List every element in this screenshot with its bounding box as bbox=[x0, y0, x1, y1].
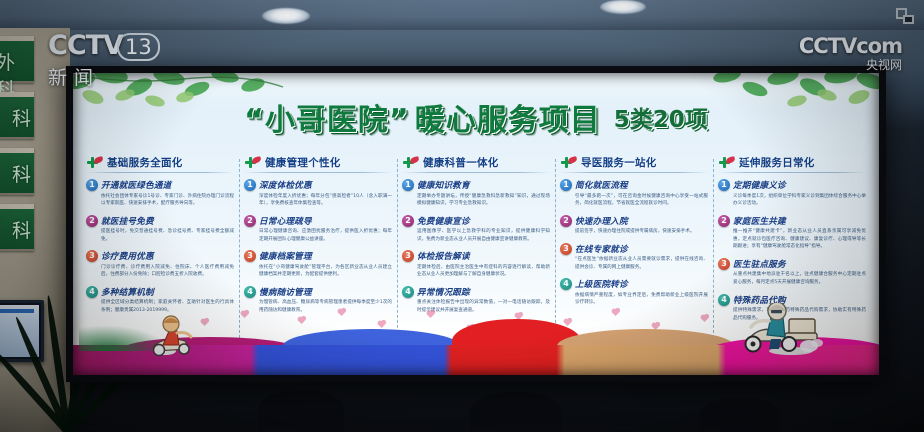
item-title: 体检报告解读 bbox=[417, 250, 470, 262]
column-header-label: 导医服务一站化 bbox=[581, 155, 657, 170]
item-number: 3 bbox=[86, 250, 98, 262]
item-number: 2 bbox=[244, 215, 256, 227]
item-title: 定期健康义诊 bbox=[733, 179, 786, 191]
item-title: 健康档案管理 bbox=[259, 250, 312, 262]
item-body: 引导“最多跑一次”，可在咨询金时候健康咨询中心享受一站式服务，简化就医流程，节省… bbox=[575, 193, 708, 208]
header-divider bbox=[718, 172, 866, 173]
green-cross-ribbon-icon bbox=[560, 156, 577, 169]
green-cross-ribbon-icon bbox=[86, 156, 103, 169]
column-header: 延伸服务日常化 bbox=[718, 155, 866, 170]
item-title: 免费健康宣诊 bbox=[417, 215, 470, 227]
item-number: 1 bbox=[718, 179, 730, 191]
item-title: 健康知识教育 bbox=[417, 179, 470, 191]
item-body: 运用图像学、医学以上急救学科的专业知识，提供健康科学知识，免费为新业态从业人员开… bbox=[417, 228, 550, 243]
service-item[interactable]: 2家庭医生共建 推一推开“健康共建卡”，新业态从业人员直系亲属可享减免优惠，定点… bbox=[718, 215, 866, 251]
department-sign: 科 bbox=[0, 92, 34, 139]
header-divider bbox=[402, 172, 550, 173]
channel-logo: CCTV13 新闻 bbox=[48, 30, 208, 92]
title-main: 暖心服务项目 bbox=[415, 95, 601, 139]
channel-name: 新闻 bbox=[48, 63, 208, 90]
item-number: 1 bbox=[402, 179, 414, 191]
watermark-cn: 央视网 bbox=[799, 56, 902, 73]
department-sign-list: 外科 科 科 科 bbox=[0, 36, 36, 260]
header-divider bbox=[560, 172, 708, 173]
service-item[interactable]: 2快速办理入院 提前签字，快速办理住院或提供专属病房，快速安排手术。 bbox=[560, 215, 708, 236]
title-count: 5类20项 bbox=[614, 100, 708, 134]
service-item[interactable]: 1健康知识教育 定期举办专题讲坛，传授“健康急救科急新救知”知识，通过现场模拟健… bbox=[402, 179, 550, 208]
item-number: 2 bbox=[86, 215, 98, 227]
item-title: 家庭医生共建 bbox=[733, 215, 786, 227]
item-title: 就医挂号免费 bbox=[101, 215, 154, 227]
item-number: 3 bbox=[560, 243, 572, 255]
desk-monitor bbox=[0, 300, 44, 362]
website-watermark: CCTVcom 央视网 bbox=[799, 34, 902, 73]
item-body: 依托在“小哥健康驾驶舱”管理平台，为各区新业态从业人员建立健康档案并定期更新，为… bbox=[259, 264, 392, 279]
ceiling bbox=[0, 0, 924, 30]
green-cross-ribbon-icon bbox=[402, 156, 419, 169]
column-header: 导医服务一站化 bbox=[560, 155, 708, 170]
service-item[interactable]: 1深度体检优惠 深度体检年度入折优惠；每年分包“感高检者”10人（含入职满一年）… bbox=[244, 179, 392, 208]
item-title: 诊疗费用优惠 bbox=[101, 250, 154, 262]
item-body: 从重点共建集中地派驻干名以上，驻点健康合服务中心定期驻点爱心服务，每月定点5天开… bbox=[733, 271, 866, 286]
service-item[interactable]: 2就医挂号免费 提医挂号时，免交普通挂号费、急诊挂号费、专家挂号费全额减免。 bbox=[86, 215, 234, 244]
item-title: 深度体检优惠 bbox=[259, 179, 312, 191]
audience-silhouette bbox=[470, 392, 562, 432]
item-number: 3 bbox=[718, 258, 730, 270]
green-cross-ribbon-icon bbox=[718, 156, 735, 169]
audience-silhouette bbox=[258, 390, 344, 432]
item-title: 开通就医绿色通道 bbox=[101, 179, 171, 191]
item-title: 上级医院转诊 bbox=[575, 278, 628, 290]
service-item[interactable]: 1简化就医流程 引导“最多跑一次”，可在咨询金时候健康咨询中心享受一站式服务，简… bbox=[560, 179, 708, 208]
service-item[interactable]: 3体检报告解读 定期体检后，由医院主治医生中有症科的内容逐行解读，帮助新业态从业… bbox=[402, 250, 550, 279]
item-body: 深度体检年度入折优惠；每年分包“感高检者”10人（含入职满一年），享免费核查年体… bbox=[259, 193, 392, 208]
title-quoted: “小哥医院” bbox=[244, 95, 409, 139]
column-header-label: 健康管理个性化 bbox=[265, 155, 341, 170]
service-item[interactable]: 3健康档案管理 依托在“小哥健康驾驶舱”管理平台，为各区新业态从业人员建立健康档… bbox=[244, 250, 392, 279]
item-number: 4 bbox=[560, 278, 572, 290]
service-item[interactable]: 3在线专家就诊 “在点医生”依据新业态从业人员需要就诊需求，提供在线咨询、提供会… bbox=[560, 243, 708, 272]
item-title: 日常心理疏导 bbox=[259, 215, 312, 227]
green-cross-ribbon-icon bbox=[244, 156, 261, 169]
item-body: 提前签字，快速办理住院或提供专属病房，快速安排手术。 bbox=[575, 228, 708, 236]
watermark-com: com bbox=[856, 34, 902, 58]
bottom-illustration bbox=[73, 303, 879, 375]
item-body: 定期体检后，由医院主治医生中有症科的内容逐行解读，帮助新业态从业人员更加理解与了… bbox=[417, 264, 550, 279]
department-sign-label: 科 bbox=[12, 104, 32, 131]
department-sign: 科 bbox=[0, 204, 34, 251]
channel-number: 13 bbox=[117, 33, 160, 61]
delivery-rider-icon bbox=[145, 307, 209, 357]
watermark-cctv: CCTV bbox=[799, 34, 856, 58]
item-number: 2 bbox=[402, 215, 414, 227]
item-number: 1 bbox=[560, 179, 572, 191]
board-title: “小哥医院” 暖心服务项目 5类20项 bbox=[73, 95, 879, 139]
department-sign: 外科 bbox=[0, 36, 34, 83]
item-title: 异常情况跟踪 bbox=[417, 286, 470, 298]
audience-silhouette bbox=[700, 398, 780, 432]
department-sign-label: 科 bbox=[12, 216, 32, 243]
header-divider bbox=[86, 172, 234, 173]
column-header-label: 健康科普一体化 bbox=[423, 155, 499, 170]
channel-logo-mark: CCTV bbox=[48, 30, 123, 61]
item-title: 慢病随访管理 bbox=[259, 286, 312, 298]
picture-in-picture-icon[interactable] bbox=[896, 8, 914, 24]
item-number: 4 bbox=[86, 286, 98, 298]
item-title: 医生驻点服务 bbox=[733, 258, 786, 270]
item-number: 2 bbox=[718, 215, 730, 227]
item-number: 4 bbox=[244, 286, 256, 298]
service-item[interactable]: 3诊疗费用优惠 门诊诊疗费、诊疗费用入院减免、住院床、个人医疗费用减免后，住费部… bbox=[86, 250, 234, 279]
item-body: 推一推开“健康共建卡”，新业态从业人员直系亲属可享减免优惠，定点就诊包医疗咨询、… bbox=[733, 228, 866, 251]
header-divider bbox=[244, 172, 392, 173]
item-body: 门诊诊疗费、诊疗费用入院减免、住院床、个人医疗费用减免后，住费部分入份免除；口腔… bbox=[101, 264, 234, 279]
led-display-board: “小哥医院” 暖心服务项目 5类20项 基础服务全面化 1开通就医绿色通道 依托… bbox=[66, 66, 886, 382]
column-header-label: 基础服务全面化 bbox=[107, 155, 183, 170]
video-frame: 外科 科 科 科 bbox=[0, 0, 924, 432]
monitor-screen bbox=[0, 305, 39, 357]
service-item[interactable]: 1开通就医绿色通道 依托社会团体专家号诊1号诊、专家门诊、外病住院办理门诊流程以… bbox=[86, 179, 234, 208]
item-body: 日常心理健康咨询、应激困扰服务治疗，提供医入折优惠；每年定期开展团队心理健康公益… bbox=[259, 228, 392, 243]
column-header: 健康科普一体化 bbox=[402, 155, 550, 170]
column-header-label: 延伸服务日常化 bbox=[739, 155, 815, 170]
item-body: 提医挂号时，免交普通挂号费、急诊挂号费、专家挂号费全额减免。 bbox=[101, 228, 234, 243]
item-body: “在点医生”依据新业态从业人员需要就诊需求，提供在线咨询、提供会诊、专属的网上健… bbox=[575, 256, 708, 271]
service-item[interactable]: 1定期健康义诊 义诊每季度1次，组织单位学科专家义诊到集团体综合服务中心举办义诊… bbox=[718, 179, 866, 208]
item-title: 快速办理入院 bbox=[575, 215, 628, 227]
board-screen: “小哥医院” 暖心服务项目 5类20项 基础服务全面化 1开通就医绿色通道 依托… bbox=[73, 73, 879, 375]
column-header: 基础服务全面化 bbox=[86, 155, 234, 170]
ceiling-light bbox=[600, 0, 646, 14]
item-number: 1 bbox=[86, 179, 98, 191]
department-sign-label: 科 bbox=[12, 160, 32, 187]
item-title: 多种结算机制 bbox=[101, 286, 154, 298]
item-body: 义诊每季度1次，组织单位学科专家义诊到集团体综合服务中心举办义诊活动。 bbox=[733, 193, 866, 208]
item-body: 定期举办专题讲坛，传授“健康急救科急新救知”知识，通过现场模拟健康知识，学习专业… bbox=[417, 193, 550, 208]
item-body: 依托社会团体专家号诊1号诊、专家门诊、外病住院办理门诊流程以专家就医、快速安排手… bbox=[101, 193, 234, 208]
department-sign: 科 bbox=[0, 148, 34, 195]
item-number: 3 bbox=[402, 250, 414, 262]
ceiling-light bbox=[262, 8, 310, 24]
delivery-scooter-icon bbox=[733, 303, 823, 357]
service-item[interactable]: 3医生驻点服务 从重点共建集中地派驻干名以上，驻点健康合服务中心定期驻点爱心服务… bbox=[718, 258, 866, 287]
item-number: 3 bbox=[244, 250, 256, 262]
item-title: 在线专家就诊 bbox=[575, 243, 628, 255]
item-number: 4 bbox=[402, 286, 414, 298]
item-title: 简化就医流程 bbox=[575, 179, 628, 191]
service-item[interactable]: 2日常心理疏导 日常心理健康咨询、应激困扰服务治疗，提供医入折优惠；每年定期开展… bbox=[244, 215, 392, 244]
column-header: 健康管理个性化 bbox=[244, 155, 392, 170]
item-number: 1 bbox=[244, 179, 256, 191]
service-item[interactable]: 2免费健康宣诊 运用图像学、医学以上急救学科的专业知识，提供健康科学知识，免费为… bbox=[402, 215, 550, 244]
item-number: 2 bbox=[560, 215, 572, 227]
